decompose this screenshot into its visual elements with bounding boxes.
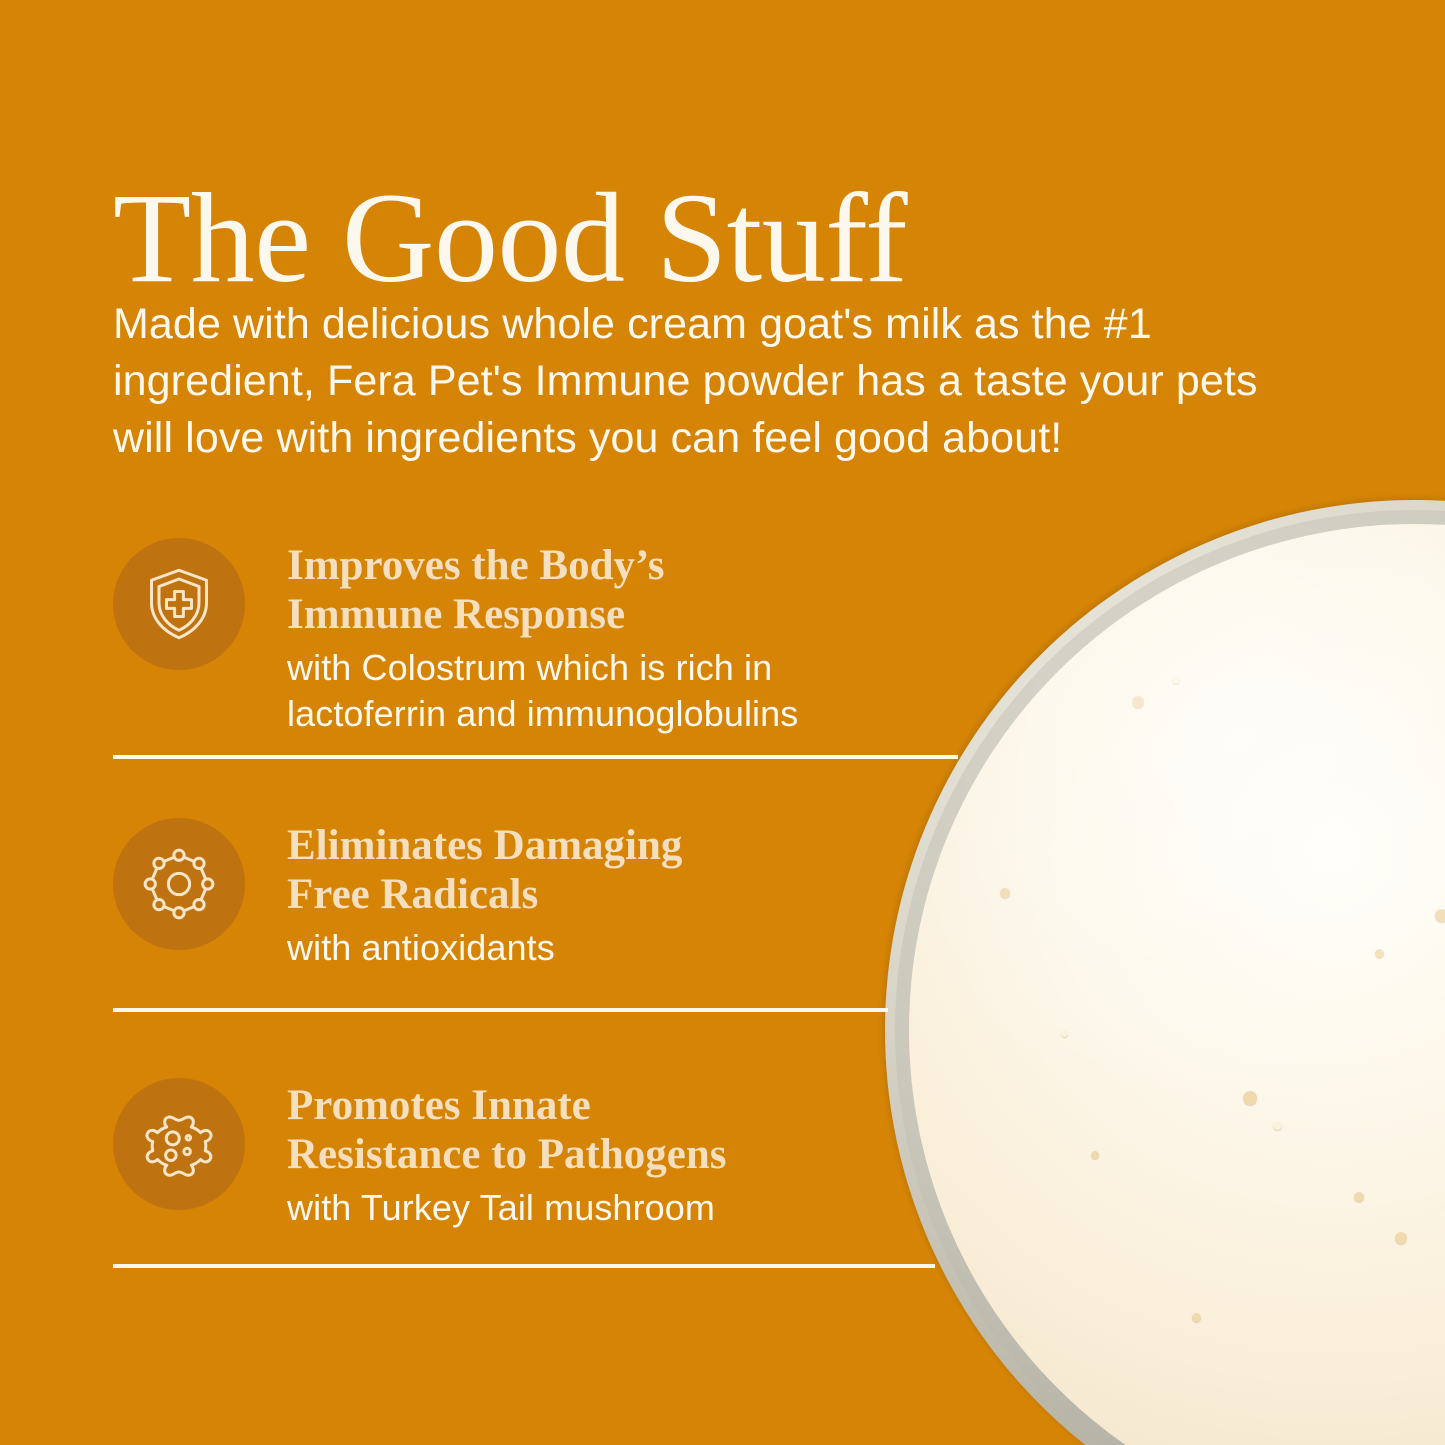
feature-text: Improves the Body’s Immune Response with… [287,538,1113,737]
feature-text: Promotes Innate Resistance to Pathogens … [287,1078,1113,1231]
feature-row-immune-response: Improves the Body’s Immune Response with… [113,538,1113,737]
feature-heading: Eliminates Damaging Free Radicals [287,822,1113,919]
antioxidant-molecule-icon-badge [113,818,245,950]
feature-subtext: with Colostrum which is rich in lactofer… [287,645,1113,737]
antioxidant-molecule-icon [139,844,219,924]
shield-plus-icon [139,564,219,644]
feature-heading: Promotes Innate Resistance to Pathogens [287,1082,1113,1179]
feature-list: Improves the Body’s Immune Response with… [0,0,1445,1445]
pathogen-virus-icon [139,1104,219,1184]
feature-heading: Improves the Body’s Immune Response [287,542,1113,639]
feature-subtext: with Turkey Tail mushroom [287,1185,1113,1231]
feature-text: Eliminates Damaging Free Radicals with a… [287,818,1113,971]
pathogen-virus-icon-badge [113,1078,245,1210]
feature-subtext: with antioxidants [287,925,1113,971]
product-infographic: The Good Stuff Made with delicious whole… [0,0,1445,1445]
shield-plus-icon-badge [113,538,245,670]
feature-row-free-radicals: Eliminates Damaging Free Radicals with a… [113,818,1113,971]
feature-row-pathogen-resistance: Promotes Innate Resistance to Pathogens … [113,1078,1113,1231]
